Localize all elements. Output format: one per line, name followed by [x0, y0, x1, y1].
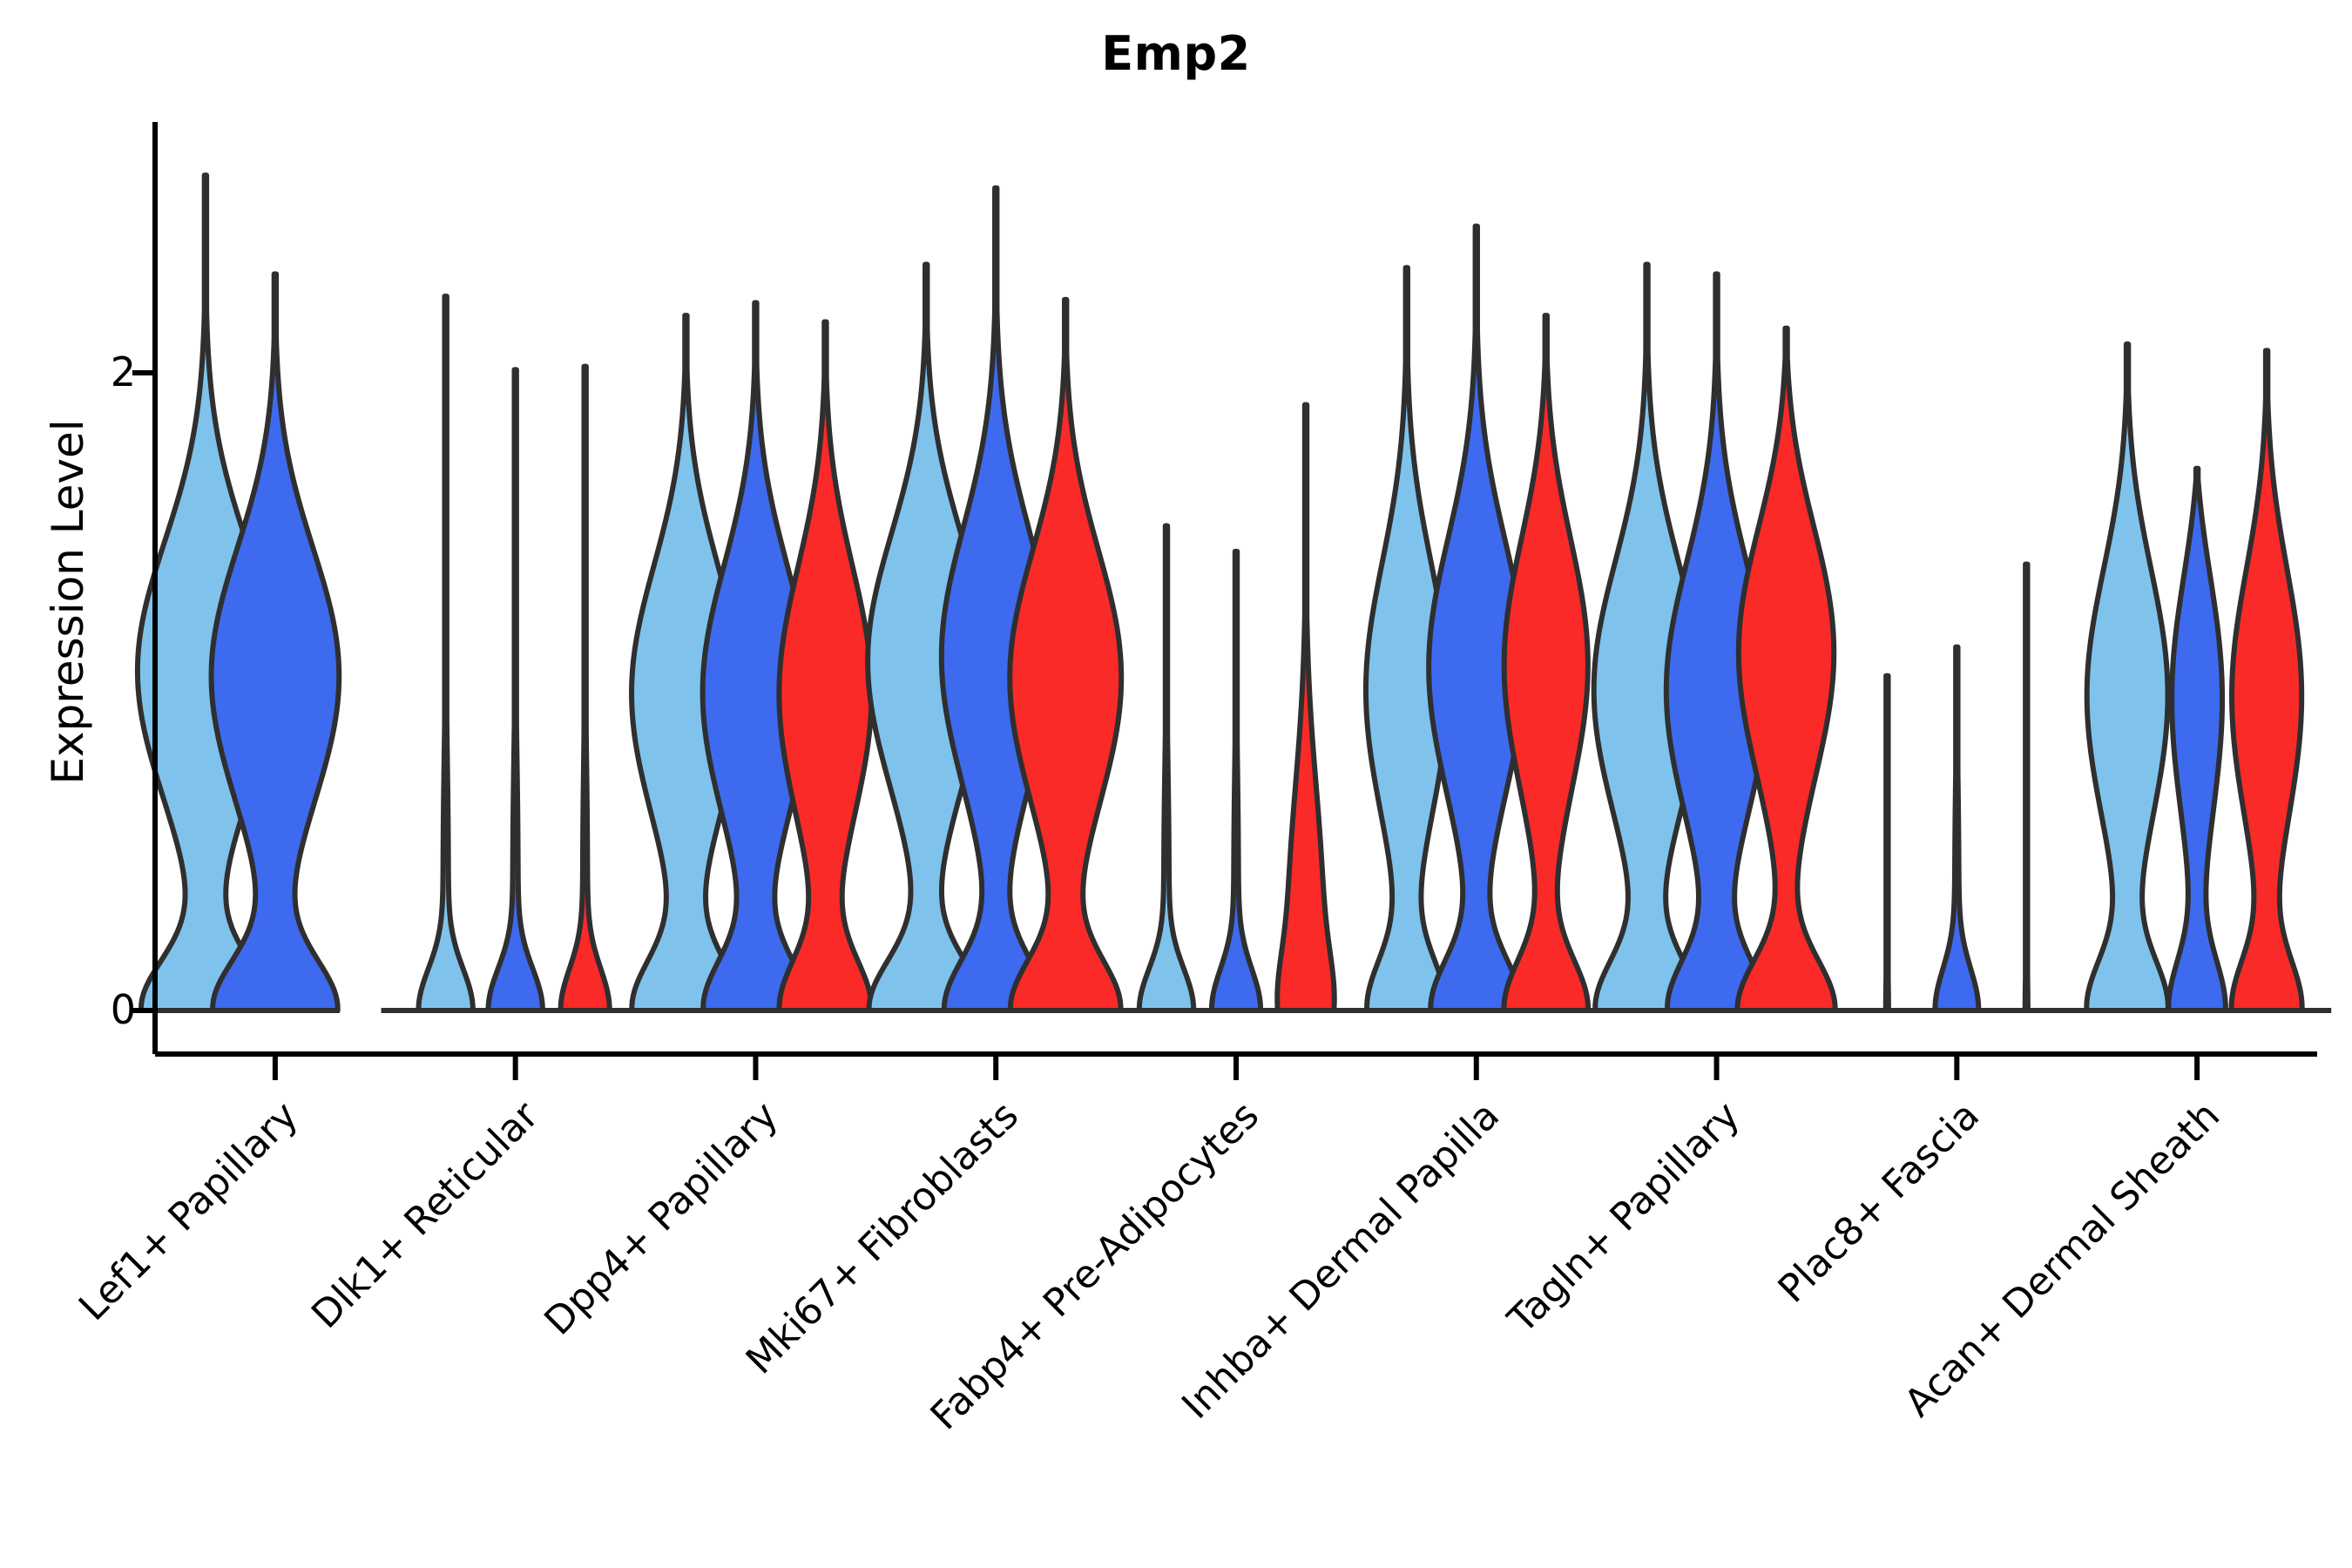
axis-group — [132, 122, 2317, 1054]
violin-light-blue-2 — [418, 296, 472, 1010]
violin-light-blue-5 — [1139, 526, 1193, 1010]
violin-light-blue-9 — [2086, 344, 2168, 1010]
violin-red-7 — [1737, 328, 1835, 1010]
violin-red-9 — [2232, 350, 2302, 1010]
violin-red-4 — [1010, 300, 1121, 1010]
violin-plot-figure: Emp2 Expression Level 2 0 Lef1+ Papillar… — [0, 0, 2352, 1568]
violin-red-3 — [779, 321, 871, 1010]
violin-blue-2 — [488, 369, 542, 1010]
violin-red-2 — [561, 367, 610, 1010]
violin-red-8 — [2025, 564, 2028, 1010]
violin-red-6 — [1504, 315, 1588, 1010]
violin-blue-5 — [1212, 551, 1260, 1010]
violins-group — [138, 175, 2331, 1010]
violin-light-blue-8 — [1886, 676, 1889, 1010]
x-tick-marks-group — [275, 1054, 2197, 1080]
violin-red-5 — [1277, 405, 1335, 1010]
violin-blue-9 — [2168, 469, 2226, 1010]
violin-blue-1 — [212, 274, 340, 1010]
violin-blue-8 — [1935, 647, 1978, 1010]
